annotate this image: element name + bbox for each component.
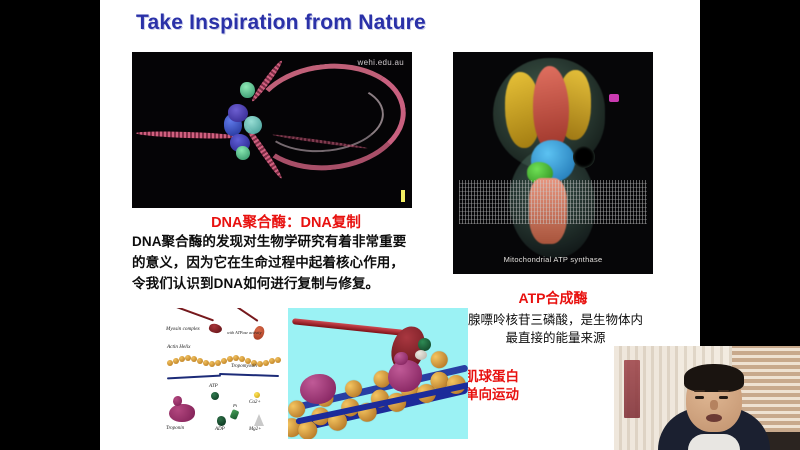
myosin-line-2: 单向运动 (465, 386, 585, 404)
cam-wall-scroll (624, 360, 640, 418)
myosin-heading: 肌球蛋白 单向运动 (465, 368, 585, 404)
cam-eyebrow-right (718, 390, 729, 392)
clamp-green-lower (236, 146, 250, 160)
cam-presenter-hair (684, 364, 744, 392)
legend-label-actin-helix: Actin Helix (167, 344, 190, 350)
cam-eye-left (695, 396, 704, 399)
legend-label-pi: Pi (233, 403, 237, 408)
clamp-teal (244, 116, 262, 134)
presenter-video-feed[interactable] (614, 346, 800, 450)
letterbox-left (0, 0, 100, 450)
legend-label-troponin: Troponin (166, 426, 184, 431)
dna-body-line-2: 的意义，因为它在生命过程中起着核心作用， (132, 252, 422, 273)
legend-label-atp: ATP (209, 384, 218, 389)
legend-label-calcium: Ca2+ (249, 400, 261, 405)
lipid-membrane (459, 180, 647, 224)
cam-eye-right (719, 396, 728, 399)
screen-capture: Take Inspiration from Nature wehi.edu.au (0, 0, 800, 450)
atp-body-line-1: 腺嘌呤核苷三磷酸，是生物体内 (458, 311, 653, 329)
pi-shape (230, 409, 240, 420)
legend-label-atpase: with ATPase activity (227, 330, 261, 335)
cam-presenter-collar (688, 434, 740, 450)
myosin-line-1: 肌球蛋白 (465, 368, 585, 386)
dna-heading: DNA聚合酶：DNA复制 (186, 211, 386, 232)
cam-eyebrow-left (694, 390, 705, 392)
myosin-head-1 (208, 322, 223, 335)
dna-strand-left (136, 130, 240, 140)
legend-label-adp: ADP (215, 427, 225, 432)
presentation-slide: Take Inspiration from Nature wehi.edu.au (100, 0, 700, 450)
atp-body-text: 腺嘌呤核苷三磷酸，是生物体内 最直接的能量来源 (458, 311, 653, 347)
dna-body-text: DNA聚合酶的发现对生物学研究有着非常重要 的意义，因为它在生命过程中起着核心作… (132, 231, 422, 294)
cam-nose (710, 400, 718, 410)
tropomyosin-strand-a (167, 375, 221, 380)
myosin-bound-head-left (300, 374, 336, 404)
legend-label-myosin-complex: Myosin complex (166, 326, 200, 332)
tropomyosin-strand-b (219, 373, 279, 377)
dna-replication-figure: wehi.edu.au (132, 52, 412, 208)
watermark-text: wehi.edu.au (358, 58, 404, 67)
membrane-pore (573, 146, 595, 168)
troponin-body (169, 404, 195, 422)
clamp-green-upper (240, 82, 255, 98)
myosin-bound-head-right (388, 360, 422, 392)
adp-shape (217, 416, 226, 426)
nucleotide-grey (415, 350, 427, 360)
substrate-molecule (609, 94, 619, 102)
page-title: Take Inspiration from Nature (136, 11, 496, 35)
myosin-tail-rod (292, 318, 404, 336)
magnesium-shape (254, 414, 264, 426)
atp-body-line-2: 最直接的能量来源 (458, 329, 653, 347)
myosin-rod-2 (228, 308, 259, 322)
atp-synthase-figure: Mitochondrial ATP synthase (453, 52, 653, 274)
myosin-legend-figure: Myosin complex with ATPase activity Acti… (165, 308, 285, 438)
myosin-rod-1 (172, 308, 214, 321)
troponin-head (173, 396, 182, 406)
legend-label-tropomyosin: Tropomyosin (231, 364, 257, 369)
atp-sphere (211, 392, 219, 400)
yellow-marker (401, 190, 405, 202)
figure-caption: Mitochondrial ATP synthase (453, 255, 653, 264)
legend-label-magnesium: Mg2+ (249, 427, 262, 432)
actin-helix-beads (165, 354, 285, 366)
calcium-sphere (254, 392, 260, 398)
atp-heading: ATP合成酶 (473, 288, 633, 308)
myosin-actin-render (288, 308, 468, 439)
dna-body-line-3: 令我们认识到DNA如何进行复制与修复。 (132, 273, 422, 294)
cam-mouth (706, 414, 722, 422)
dna-body-line-1: DNA聚合酶的发现对生物学研究有着非常重要 (132, 231, 422, 252)
myosin-bound-head-knob (394, 352, 408, 365)
